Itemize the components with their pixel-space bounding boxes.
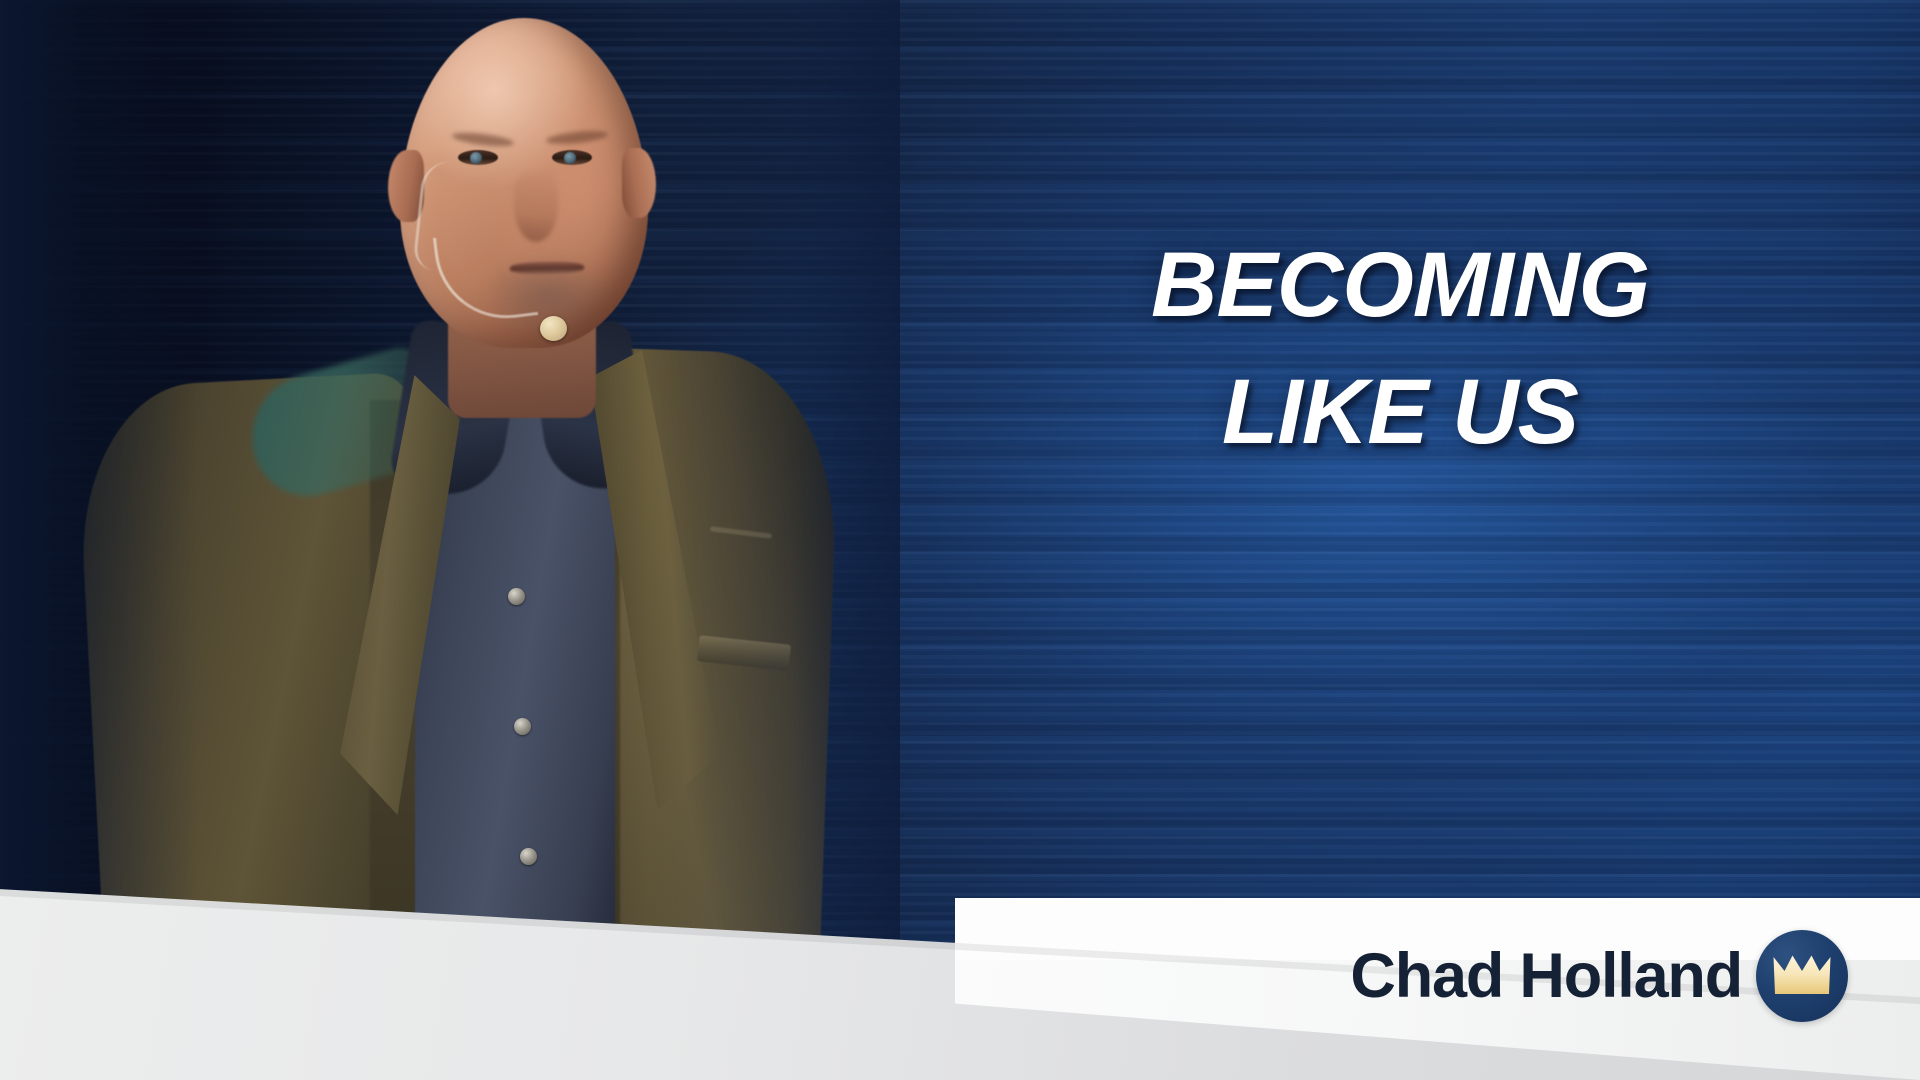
slide-canvas: BECOMING LIKE US Chad Holland: [0, 0, 1920, 1080]
shirt-button: [514, 718, 531, 735]
eye-right: [552, 150, 592, 165]
ear-right: [622, 148, 656, 218]
iris-left: [470, 152, 482, 164]
brand-lockup[interactable]: Chad Holland: [1350, 930, 1848, 1022]
shirt-button: [520, 848, 537, 865]
title-line-1: BECOMING: [1020, 222, 1780, 349]
title-line-2: LIKE US: [1020, 349, 1780, 476]
brand-badge: [1756, 930, 1848, 1022]
headset-microphone-icon: [540, 316, 567, 341]
iris-right: [564, 152, 576, 164]
speaker-photo: [70, 0, 910, 960]
brand-name: Chad Holland: [1350, 945, 1742, 1008]
slide-title: BECOMING LIKE US: [1020, 222, 1780, 476]
shirt-button: [508, 588, 525, 605]
crown-icon: [1773, 954, 1831, 998]
eye-left: [458, 150, 498, 165]
